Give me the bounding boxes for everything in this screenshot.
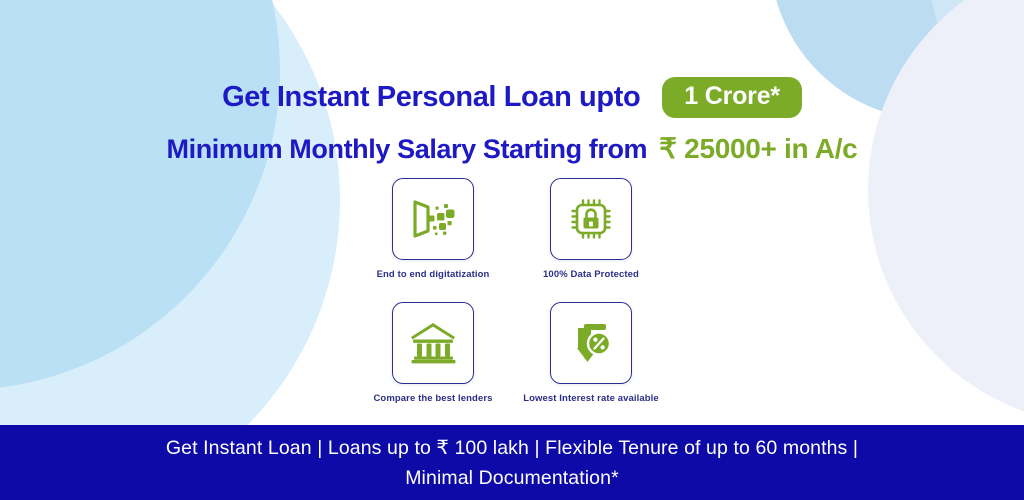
feature-label-compare-lenders: Compare the best lenders [373, 393, 492, 404]
icon-card-digitization [392, 178, 474, 260]
bank-building-icon [407, 317, 459, 369]
feature-item-data-protected: 100% Data Protected [491, 178, 691, 280]
promo-banner: Get Instant Personal Loan upto 1 Crore* … [0, 0, 1024, 500]
feature-grid: End to end digitatization [0, 178, 1024, 404]
feature-label-digitization: End to end digitatization [377, 269, 490, 280]
icon-card-lowest-rate [550, 302, 632, 384]
salary-requirement-text: Minimum Monthly Salary Starting from [167, 134, 648, 165]
chip-lock-icon [566, 194, 616, 244]
headline-primary-text: Get Instant Personal Loan upto [222, 81, 640, 114]
headline-block: Get Instant Personal Loan upto 1 Crore* … [0, 74, 1024, 165]
bottom-offer-banner: Get Instant Loan | Loans up to ₹ 100 lak… [0, 425, 1024, 500]
icon-card-compare-lenders [392, 302, 474, 384]
feature-label-lowest-rate: Lowest Interest rate available [523, 393, 659, 404]
feature-label-data-protected: 100% Data Protected [543, 269, 639, 280]
icon-card-data-protected [550, 178, 632, 260]
banner-content: Get Instant Personal Loan upto 1 Crore* … [0, 0, 1024, 425]
headline-line-2: Minimum Monthly Salary Starting from ₹ 2… [0, 132, 1024, 165]
down-arrow-percent-icon [566, 318, 616, 368]
digitization-funnel-icon [408, 194, 458, 244]
feature-item-lowest-rate: Lowest Interest rate available [491, 302, 691, 404]
bottom-banner-line-1: Get Instant Loan | Loans up to ₹ 100 lak… [166, 436, 858, 460]
salary-amount-text: ₹ 25000+ in A/c [659, 132, 857, 165]
headline-line-1: Get Instant Personal Loan upto 1 Crore* [0, 74, 1024, 120]
bottom-banner-line-2: Minimal Documentation* [405, 467, 619, 490]
amount-badge: 1 Crore* [662, 77, 802, 118]
